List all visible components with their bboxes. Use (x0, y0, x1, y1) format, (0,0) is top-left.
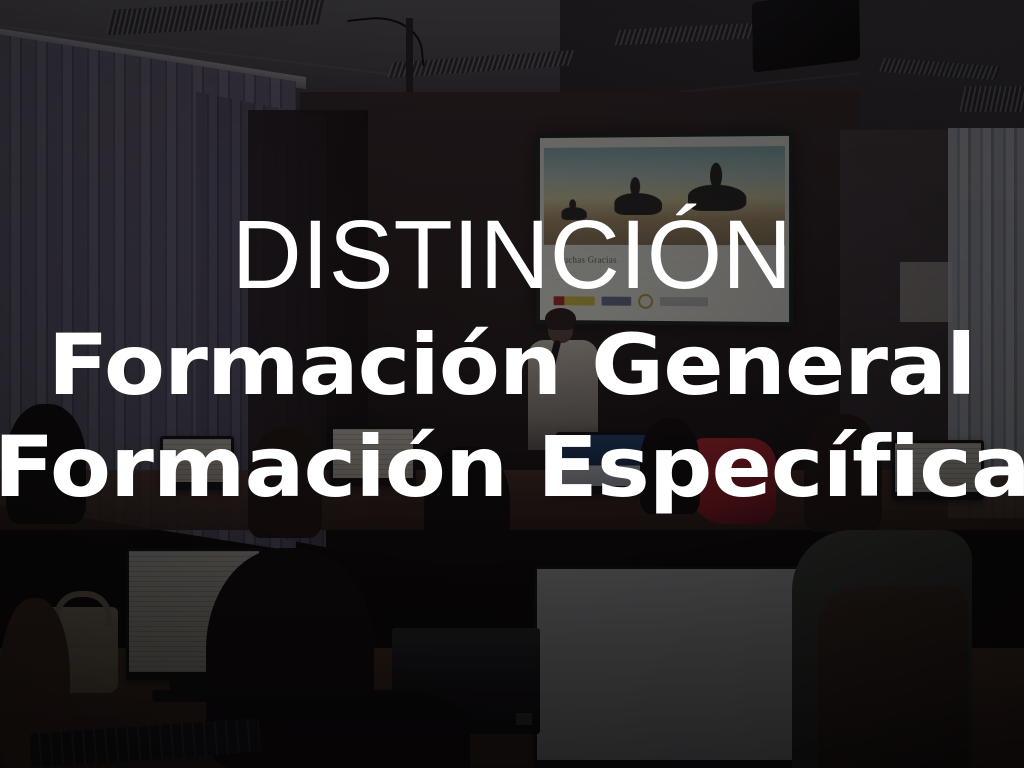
sponsor-logo-icon (554, 296, 595, 305)
student-silhouette (424, 446, 510, 566)
wall-poster (900, 262, 952, 322)
student-silhouette (248, 428, 322, 538)
person-brown-coat (818, 586, 968, 768)
student-silhouette (804, 414, 882, 532)
monitor (534, 566, 830, 768)
student-silhouette (6, 404, 86, 524)
student-silhouette (640, 418, 700, 514)
projection-screen-surface: Muchas Gracias ······················· (540, 136, 789, 322)
rider-silhouette (710, 163, 722, 189)
monitor-screen (559, 435, 649, 486)
monitor-screen (895, 443, 981, 492)
monitor-screen (537, 569, 827, 760)
slide: Muchas Gracias ······················· (0, 0, 1024, 768)
monitor-screen (333, 429, 413, 478)
presenter-hair (545, 308, 576, 330)
monitor (556, 432, 652, 494)
sponsor-logo-icon (638, 294, 653, 309)
rider-silhouette (630, 177, 640, 196)
slide-photo-horses-sunset (544, 146, 785, 245)
red-jacket (690, 438, 776, 524)
monitor-screen (163, 439, 231, 482)
projected-slide-title: Muchas Gracias (556, 255, 617, 265)
sponsor-logo-icon (602, 297, 632, 306)
projected-logo-row (554, 293, 708, 309)
horse-silhouette (614, 193, 662, 215)
background-photo: Muchas Gracias ······················· (0, 0, 1024, 768)
sponsor-logo-icon (660, 297, 708, 306)
monitor (160, 436, 234, 490)
rider-silhouette (569, 199, 576, 210)
projected-slide-subtitle: ······················· (556, 271, 577, 285)
air-vent-icon (959, 86, 1024, 112)
student-silhouette (300, 690, 470, 768)
projector-mount-pole (406, 18, 413, 96)
projection-screen: Muchas Gracias ······················· (536, 132, 793, 326)
monitor (892, 440, 984, 500)
monitor (330, 426, 416, 486)
